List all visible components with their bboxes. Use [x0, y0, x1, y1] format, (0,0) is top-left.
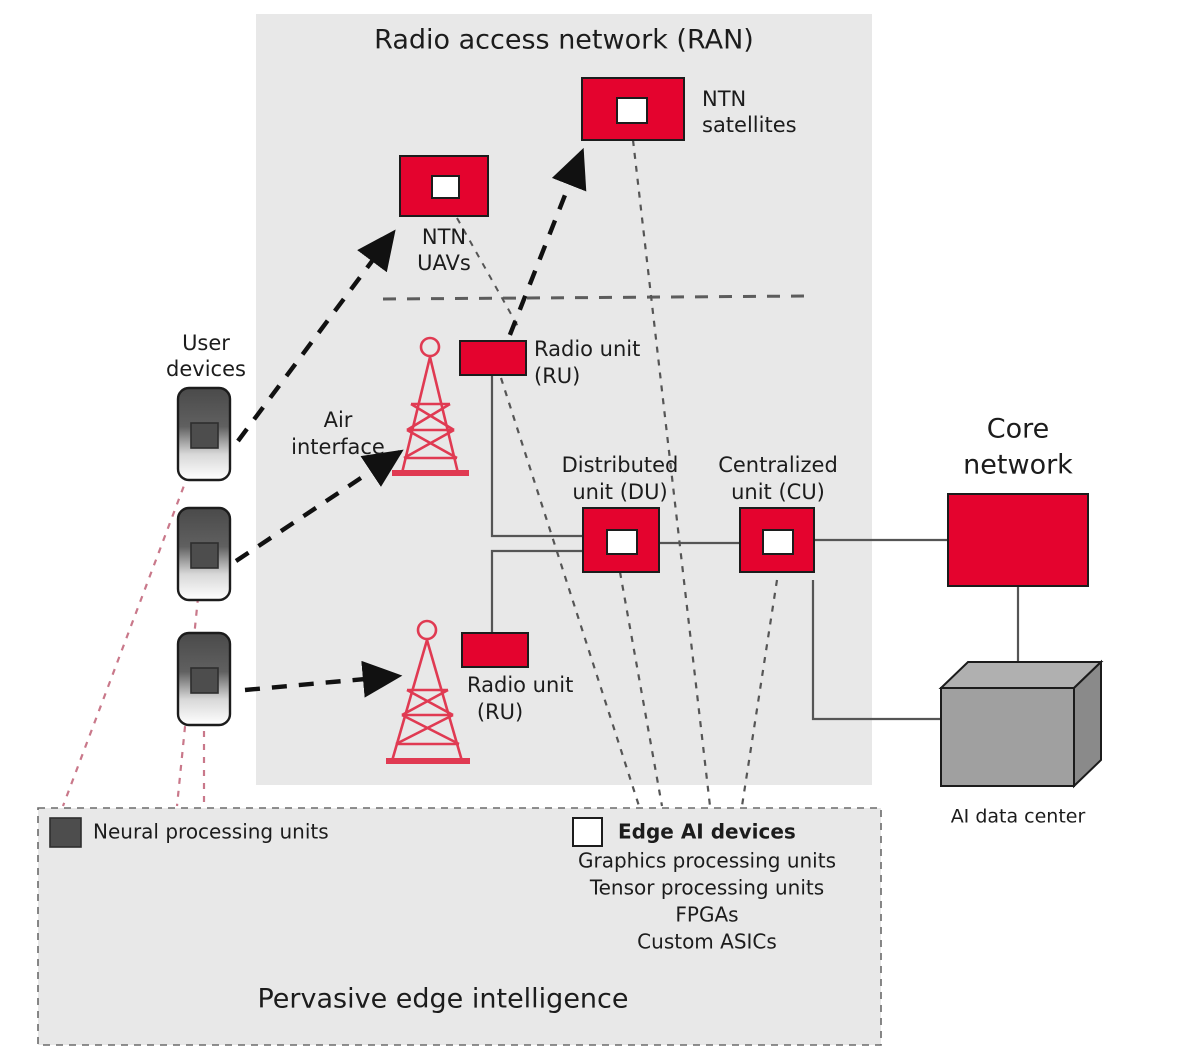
legend-edge-ai-swatch-icon [573, 818, 602, 846]
core-network-label-line1: Core [987, 414, 1050, 445]
radio-unit-bottom-label-line2: (RU) [477, 700, 523, 724]
node-ai-data-center[interactable]: AI data center [941, 662, 1101, 828]
legend-edge-ai-item-3: Custom ASICs [637, 930, 777, 954]
radio-unit-bottom-label-line1: Radio unit [467, 673, 573, 697]
ntn-uavs-label-line1: NTN [422, 225, 466, 249]
network-architecture-diagram: Radio access network (RAN) [0, 0, 1200, 1059]
ntn-satellites-edge-ai-chip [617, 98, 647, 123]
user-devices-label-line1: User [182, 331, 230, 355]
node-core-network[interactable]: Core network [948, 414, 1088, 587]
centralized-unit-label-line2: unit (CU) [731, 480, 825, 504]
ntn-uavs-label-line2: UAVs [417, 251, 471, 275]
legend-edge-ai-item-0: Graphics processing units [578, 849, 836, 873]
radio-unit-top-label-line2: (RU) [534, 364, 580, 388]
user-devices-label-line2: devices [166, 357, 246, 381]
radio-unit-bottom-box [462, 633, 528, 667]
npu-link-device-1 [63, 438, 202, 806]
radio-unit-top-label-line1: Radio unit [534, 337, 640, 361]
pervasive-edge-intelligence-label: Pervasive edge intelligence [257, 984, 628, 1015]
legend-edge-ai-item-2: FPGAs [675, 903, 738, 927]
distributed-unit-label-line1: Distributed [562, 453, 679, 477]
air-interface-label-line1: Air [324, 408, 353, 432]
group-user-devices: User devices [166, 331, 246, 725]
user-device-3[interactable] [178, 633, 230, 725]
radio-unit-top-box [460, 341, 526, 375]
ntn-satellites-label-line1: NTN [702, 87, 746, 111]
ai-data-center-front-face [941, 688, 1074, 786]
legend-npu-label: Neural processing units [93, 820, 329, 844]
user-device-3-npu [191, 668, 218, 693]
core-network-box [948, 494, 1088, 586]
distributed-unit-edge-ai-chip [607, 530, 637, 554]
user-device-2[interactable] [178, 508, 230, 600]
legend-npu-swatch-icon [50, 818, 81, 847]
legend-edge-ai-title: Edge AI devices [618, 820, 796, 844]
user-device-1[interactable] [178, 388, 230, 480]
legend-edge-ai-item-1: Tensor processing units [589, 876, 824, 900]
diagram-canvas: Radio access network (RAN) [0, 0, 1200, 1059]
user-device-2-npu [191, 543, 218, 568]
air-interface-label-line2: interface [291, 435, 385, 459]
centralized-unit-edge-ai-chip [763, 530, 793, 554]
ran-title: Radio access network (RAN) [374, 25, 754, 56]
centralized-unit-label-line1: Centralized [718, 453, 838, 477]
ai-data-center-label: AI data center [951, 806, 1086, 828]
ntn-satellites-label-line2: satellites [702, 113, 797, 137]
ntn-uavs-edge-ai-chip [432, 176, 459, 198]
user-device-1-npu [191, 423, 218, 448]
core-network-label-line2: network [963, 450, 1073, 481]
distributed-unit-label-line2: unit (DU) [572, 480, 667, 504]
